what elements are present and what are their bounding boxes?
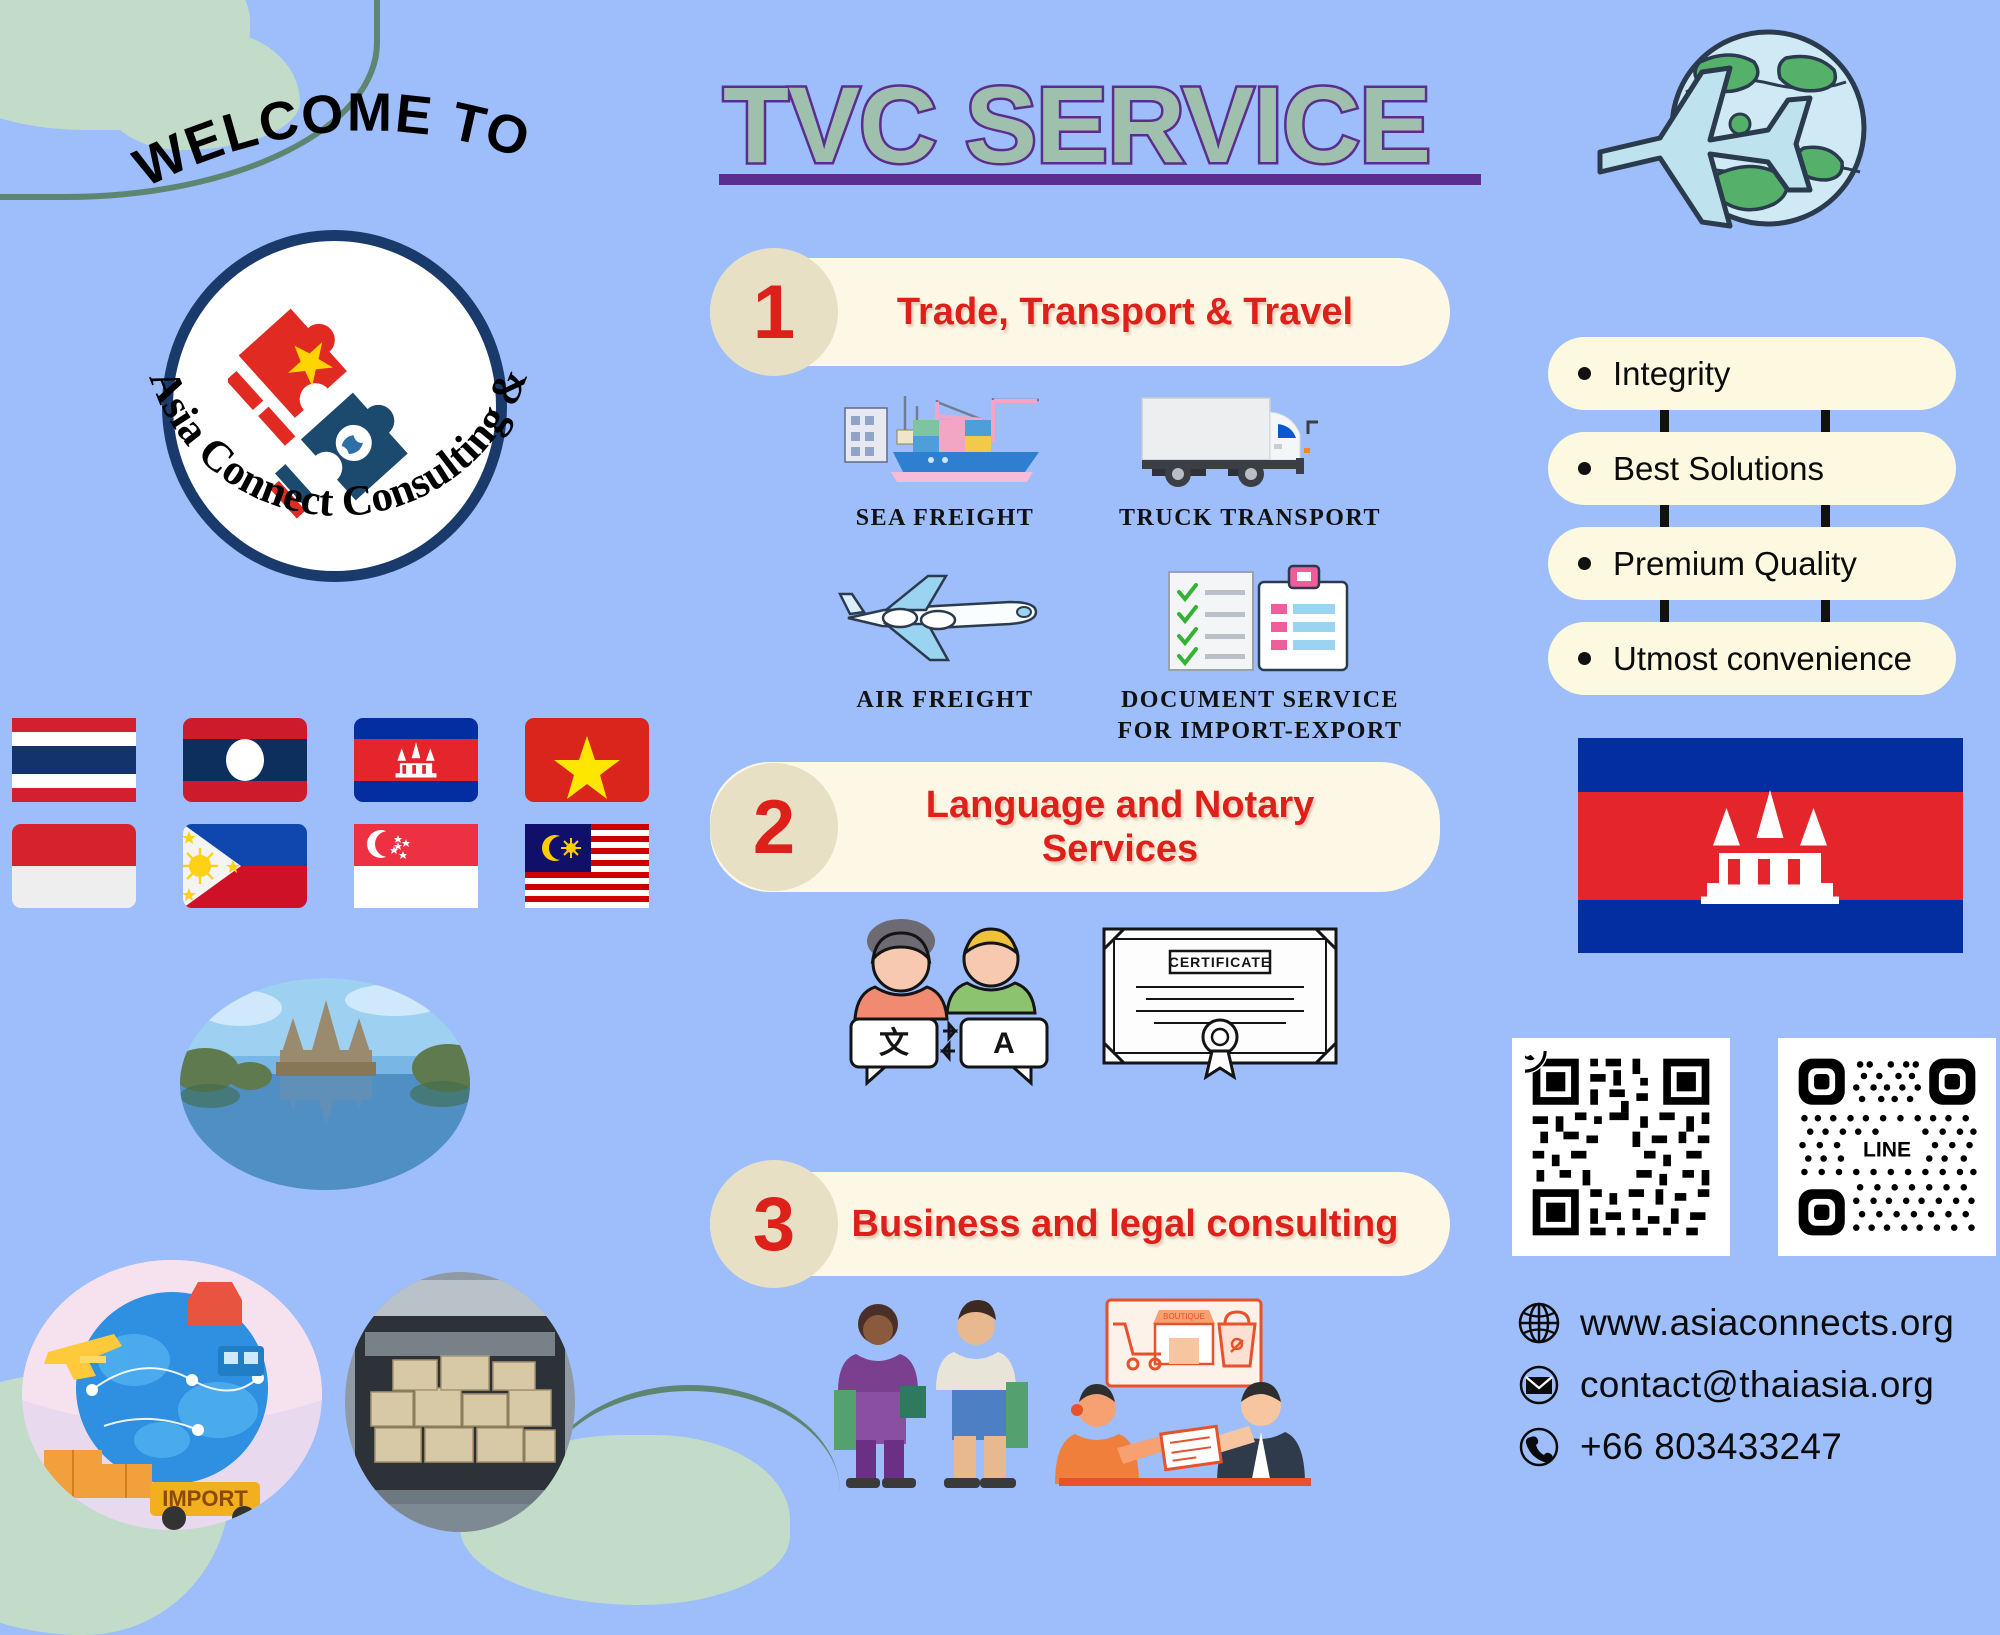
consultation-meeting-icon bbox=[830, 1290, 1030, 1490]
page-title: TVC SERVICE bbox=[715, 62, 1495, 207]
svg-text:CERTIFICATE: CERTIFICATE bbox=[1169, 954, 1272, 970]
truck-transport-icon bbox=[1138, 390, 1363, 492]
value-label-1: Best Solutions bbox=[1613, 450, 1824, 488]
contact-website-text: www.asiaconnects.org bbox=[1580, 1302, 1954, 1344]
logo-arc-label: Asia Connect Consulting & Trade bbox=[110, 190, 537, 526]
value-label-3: Utmost convenience bbox=[1613, 640, 1912, 678]
service-row-3[interactable]: Business and legal consulting 3 bbox=[710, 1172, 1450, 1276]
service-3-icon-grid: BOUTIQUE bbox=[830, 1290, 1390, 1500]
asean-flags-grid bbox=[12, 718, 672, 908]
sea-freight-icon bbox=[843, 390, 1048, 492]
service-2-number: 2 bbox=[710, 763, 838, 891]
truck-transport-item: TRUCK TRANSPORT bbox=[1100, 390, 1400, 534]
bullet-dot-icon bbox=[1578, 557, 1591, 570]
air-freight-item: AIR FREIGHT bbox=[820, 568, 1070, 716]
sea-freight-caption: SEA FREIGHT bbox=[820, 503, 1070, 534]
service-row-2[interactable]: Language and Notary Services 2 bbox=[710, 762, 1440, 892]
bullet-dot-icon bbox=[1578, 652, 1591, 665]
angkor-wat-photo bbox=[180, 978, 470, 1190]
svg-text:Asia Connect Consulting & Trad: Asia Connect Consulting & Trade bbox=[110, 190, 537, 526]
welcome-heading: WELCOME TO bbox=[130, 70, 550, 200]
line-qr-label: LINE bbox=[1863, 1139, 1911, 1162]
flag-singapore bbox=[354, 824, 478, 908]
contact-email[interactable]: contact@thaiasia.org bbox=[1516, 1362, 1954, 1408]
flag-malaysia bbox=[525, 824, 649, 908]
svg-text:A: A bbox=[993, 1027, 1015, 1060]
flag-philippines bbox=[183, 824, 307, 908]
contact-phone[interactable]: +66 803433247 bbox=[1516, 1424, 1954, 1470]
sea-freight-item: SEA FREIGHT bbox=[820, 390, 1070, 534]
flag-indonesia bbox=[12, 824, 136, 908]
qr-codes: LINE bbox=[1512, 1038, 1996, 1256]
value-label-2: Premium Quality bbox=[1613, 545, 1857, 583]
certificate-icon: CERTIFICATE bbox=[1100, 925, 1340, 1085]
air-freight-icon bbox=[838, 568, 1053, 674]
flag-laos bbox=[183, 718, 307, 802]
cambodia-flag-large bbox=[1578, 738, 1963, 953]
value-pill-premium-quality[interactable]: Premium Quality bbox=[1548, 527, 1956, 600]
svg-text:文: 文 bbox=[879, 1026, 909, 1060]
service-2-label-line2: Services bbox=[828, 827, 1412, 871]
company-logo: Asia Connect Consulting & Trade bbox=[140, 212, 530, 602]
contact-phone-text: +66 803433247 bbox=[1580, 1426, 1842, 1468]
contact-email-text: contact@thaiasia.org bbox=[1580, 1364, 1934, 1406]
value-props-list: Integrity Best Solutions Premium Quality… bbox=[1548, 337, 1956, 695]
document-service-icon bbox=[1163, 562, 1358, 674]
svg-text:BOUTIQUE: BOUTIQUE bbox=[1163, 1312, 1205, 1321]
document-service-caption-line1: DOCUMENT SERVICE bbox=[1100, 685, 1420, 716]
email-icon bbox=[1516, 1362, 1562, 1408]
air-freight-caption: AIR FREIGHT bbox=[820, 685, 1070, 716]
value-connector-1 bbox=[1548, 505, 1956, 527]
document-service-caption-line2: FOR IMPORT-EXPORT bbox=[1100, 716, 1420, 747]
contact-website[interactable]: www.asiaconnects.org bbox=[1516, 1300, 1954, 1346]
service-3-number: 3 bbox=[710, 1160, 838, 1288]
whatsapp-qr-code[interactable] bbox=[1512, 1038, 1730, 1256]
bullet-dot-icon bbox=[1578, 462, 1591, 475]
value-pill-utmost-convenience[interactable]: Utmost convenience bbox=[1548, 622, 1956, 695]
globe-airplane-icon bbox=[1590, 20, 1870, 270]
value-label-0: Integrity bbox=[1613, 355, 1730, 393]
service-1-number: 1 bbox=[710, 248, 838, 376]
value-pill-best-solutions[interactable]: Best Solutions bbox=[1548, 432, 1956, 505]
logistics-globe-illustration: IMPORT bbox=[22, 1260, 322, 1530]
globe-icon bbox=[1516, 1300, 1562, 1346]
contact-info: www.asiaconnects.org contact@thaiasia.or… bbox=[1516, 1300, 1954, 1486]
document-service-item: DOCUMENT SERVICE FOR IMPORT-EXPORT bbox=[1100, 562, 1420, 746]
value-connector-2 bbox=[1548, 600, 1956, 622]
value-pill-integrity[interactable]: Integrity bbox=[1548, 337, 1956, 410]
value-connector-0 bbox=[1548, 410, 1956, 432]
service-2-icon-grid: 文 A CERTIFICATE bbox=[845, 915, 1365, 1095]
service-row-1[interactable]: Trade, Transport & Travel 1 bbox=[710, 258, 1450, 366]
bullet-dot-icon bbox=[1578, 367, 1591, 380]
logo-arc-text: Asia Connect Consulting & Trade bbox=[110, 190, 565, 630]
flag-vietnam bbox=[525, 718, 649, 802]
svg-text:WELCOME TO: WELCOME TO bbox=[130, 82, 538, 198]
welcome-text: WELCOME TO bbox=[130, 82, 538, 198]
flag-cambodia bbox=[354, 718, 478, 802]
flag-thailand bbox=[12, 718, 136, 802]
loaded-truck-photo bbox=[345, 1272, 575, 1532]
service-2-label-line1: Language and Notary bbox=[828, 783, 1412, 827]
truck-transport-caption: TRUCK TRANSPORT bbox=[1100, 503, 1400, 534]
business-setup-icon: BOUTIQUE bbox=[1055, 1290, 1315, 1490]
translation-speech-icon: 文 A bbox=[845, 915, 1055, 1095]
page-title-text: TVC SERVICE bbox=[723, 64, 1430, 185]
line-qr-code[interactable]: LINE bbox=[1778, 1038, 1996, 1256]
phone-icon bbox=[1516, 1424, 1562, 1470]
decorative-line-bottom-middle bbox=[540, 1385, 840, 1535]
